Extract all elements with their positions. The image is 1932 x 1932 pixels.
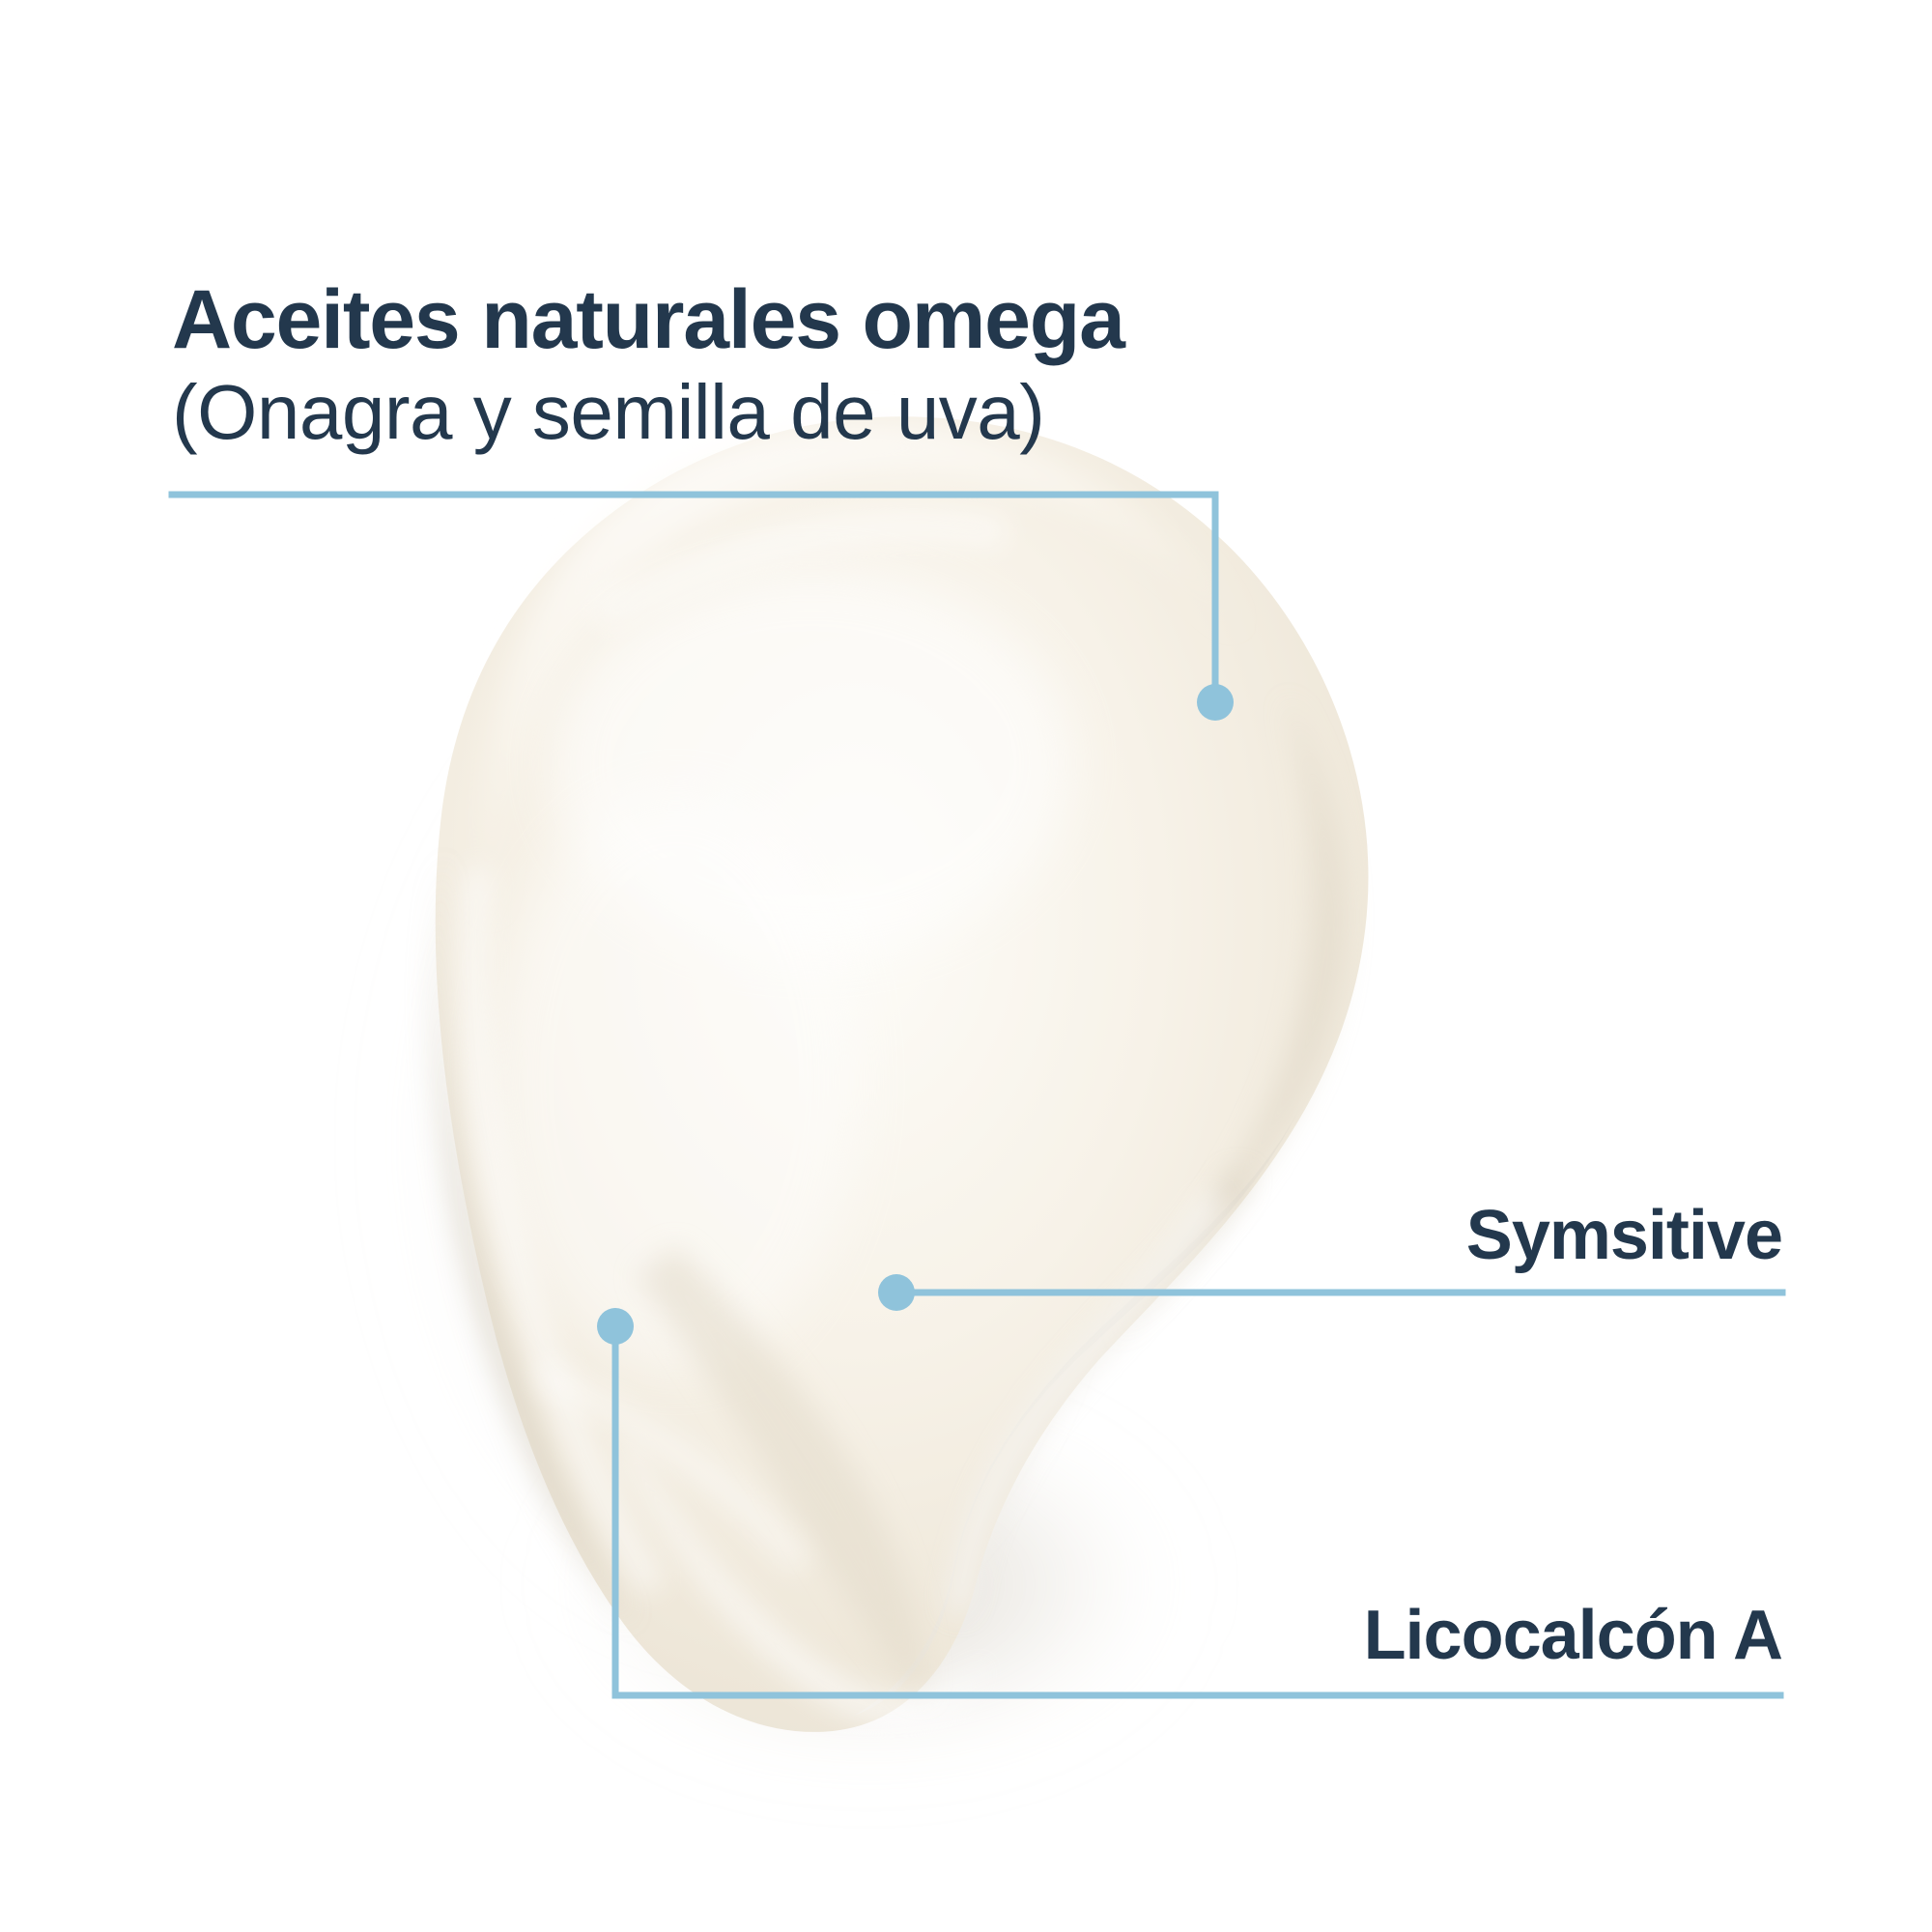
poster-canvas: Aceites naturales omega (Onagra y semill… bbox=[0, 0, 1932, 1932]
callout-label-symsitive: Symsitive bbox=[1466, 1196, 1782, 1275]
page-subtitle: (Onagra y semilla de uva) bbox=[172, 367, 1524, 458]
callout-dot-aceites bbox=[1197, 684, 1234, 721]
page-title: Aceites naturales omega bbox=[172, 278, 1524, 361]
cream-swatch bbox=[434, 416, 1368, 1732]
callout-dot-licocalcon bbox=[597, 1308, 634, 1345]
callout-dot-symsitive bbox=[878, 1274, 915, 1311]
header-block: Aceites naturales omega (Onagra y semill… bbox=[172, 278, 1524, 458]
callout-label-licocalcon: Licocalcón A bbox=[1364, 1596, 1782, 1675]
